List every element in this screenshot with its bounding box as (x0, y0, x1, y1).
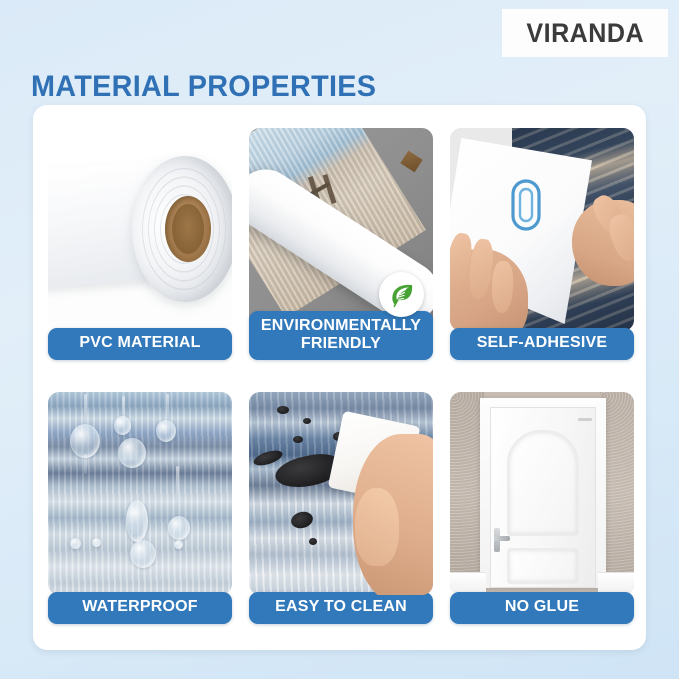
water-drop-4 (156, 420, 176, 442)
no-glue-illustration (450, 392, 634, 595)
wall-left (450, 392, 484, 595)
feature-card-pvc-material[interactable]: PVC MATERIAL (48, 128, 232, 360)
door-lever (494, 536, 510, 541)
water-drop-8 (70, 538, 81, 549)
brand-name: VIRANDA (526, 18, 644, 49)
stain-7 (309, 538, 317, 545)
infographic-page: VIRANDA MATERIAL PROPERTIES PVC MATERIAL (0, 0, 679, 679)
feature-image-no-glue (450, 392, 634, 595)
leaf-icon (387, 280, 417, 310)
feature-image-waterproof (48, 392, 232, 595)
drop-trail-5 (176, 466, 179, 502)
feature-label-no-glue: NO GLUE (450, 592, 634, 624)
eco-peel-illustration (249, 128, 433, 331)
feature-label-waterproof: WATERPROOF (48, 592, 232, 624)
water-drop-7 (130, 540, 156, 568)
stain-8 (252, 448, 284, 469)
feature-image-self-adhesive (450, 128, 634, 331)
white-door (490, 407, 596, 588)
feature-card-easy-to-clean[interactable]: EASY TO CLEAN (249, 392, 433, 624)
stain-4 (303, 418, 311, 424)
page-title: MATERIAL PROPERTIES (31, 70, 376, 104)
water-drop-2 (114, 416, 131, 435)
door-panel-bottom (507, 548, 579, 584)
stain-5 (293, 436, 303, 443)
feature-image-environmentally-friendly (249, 128, 433, 331)
water-drop-3 (118, 438, 146, 468)
feature-card-no-glue[interactable]: NO GLUE (450, 392, 634, 624)
feature-label-environmentally-friendly: ENVIRONMENTALLY FRIENDLY (249, 311, 433, 360)
feature-label-line-2: FRIENDLY (253, 335, 429, 353)
feature-label-easy-to-clean: EASY TO CLEAN (249, 592, 433, 624)
drop-trail-1 (84, 394, 87, 428)
brand-logo-box: VIRANDA (502, 9, 668, 57)
eco-badge (379, 272, 424, 317)
waterproof-illustration (48, 392, 232, 595)
water-drop-5 (126, 500, 148, 542)
feature-card-waterproof[interactable]: WATERPROOF (48, 392, 232, 624)
feature-card-self-adhesive[interactable]: SELF-ADHESIVE (450, 128, 634, 360)
feature-image-pvc-material (48, 128, 232, 331)
drop-trail-3 (166, 394, 169, 418)
easy-clean-illustration (249, 392, 433, 595)
paperclip-icon-wrapper (508, 176, 544, 239)
feature-label-pvc-material: PVC MATERIAL (48, 328, 232, 360)
pvc-roll-illustration (48, 128, 232, 331)
stain-2 (289, 510, 314, 531)
water-drop-6 (168, 516, 190, 540)
door-frame (480, 398, 606, 588)
feature-label-line-1: ENVIRONMENTALLY (253, 317, 429, 335)
door-panel-top (507, 430, 579, 536)
features-grid: PVC MATERIAL (48, 128, 634, 628)
door-frame-detail (578, 418, 592, 421)
self-adhesive-illustration (450, 128, 634, 331)
stain-3 (277, 406, 289, 414)
peel-corner-tip (400, 151, 422, 173)
water-drop-9 (92, 538, 101, 547)
paperclip-icon (508, 176, 544, 234)
feature-image-easy-to-clean (249, 392, 433, 595)
water-drop-10 (174, 540, 183, 549)
cleaning-thumb (355, 488, 399, 566)
water-drop-1 (70, 424, 100, 458)
pvc-core-hole (172, 204, 204, 254)
feature-card-environmentally-friendly[interactable]: ENVIRONMENTALLY FRIENDLY (249, 128, 433, 360)
feature-label-self-adhesive: SELF-ADHESIVE (450, 328, 634, 360)
